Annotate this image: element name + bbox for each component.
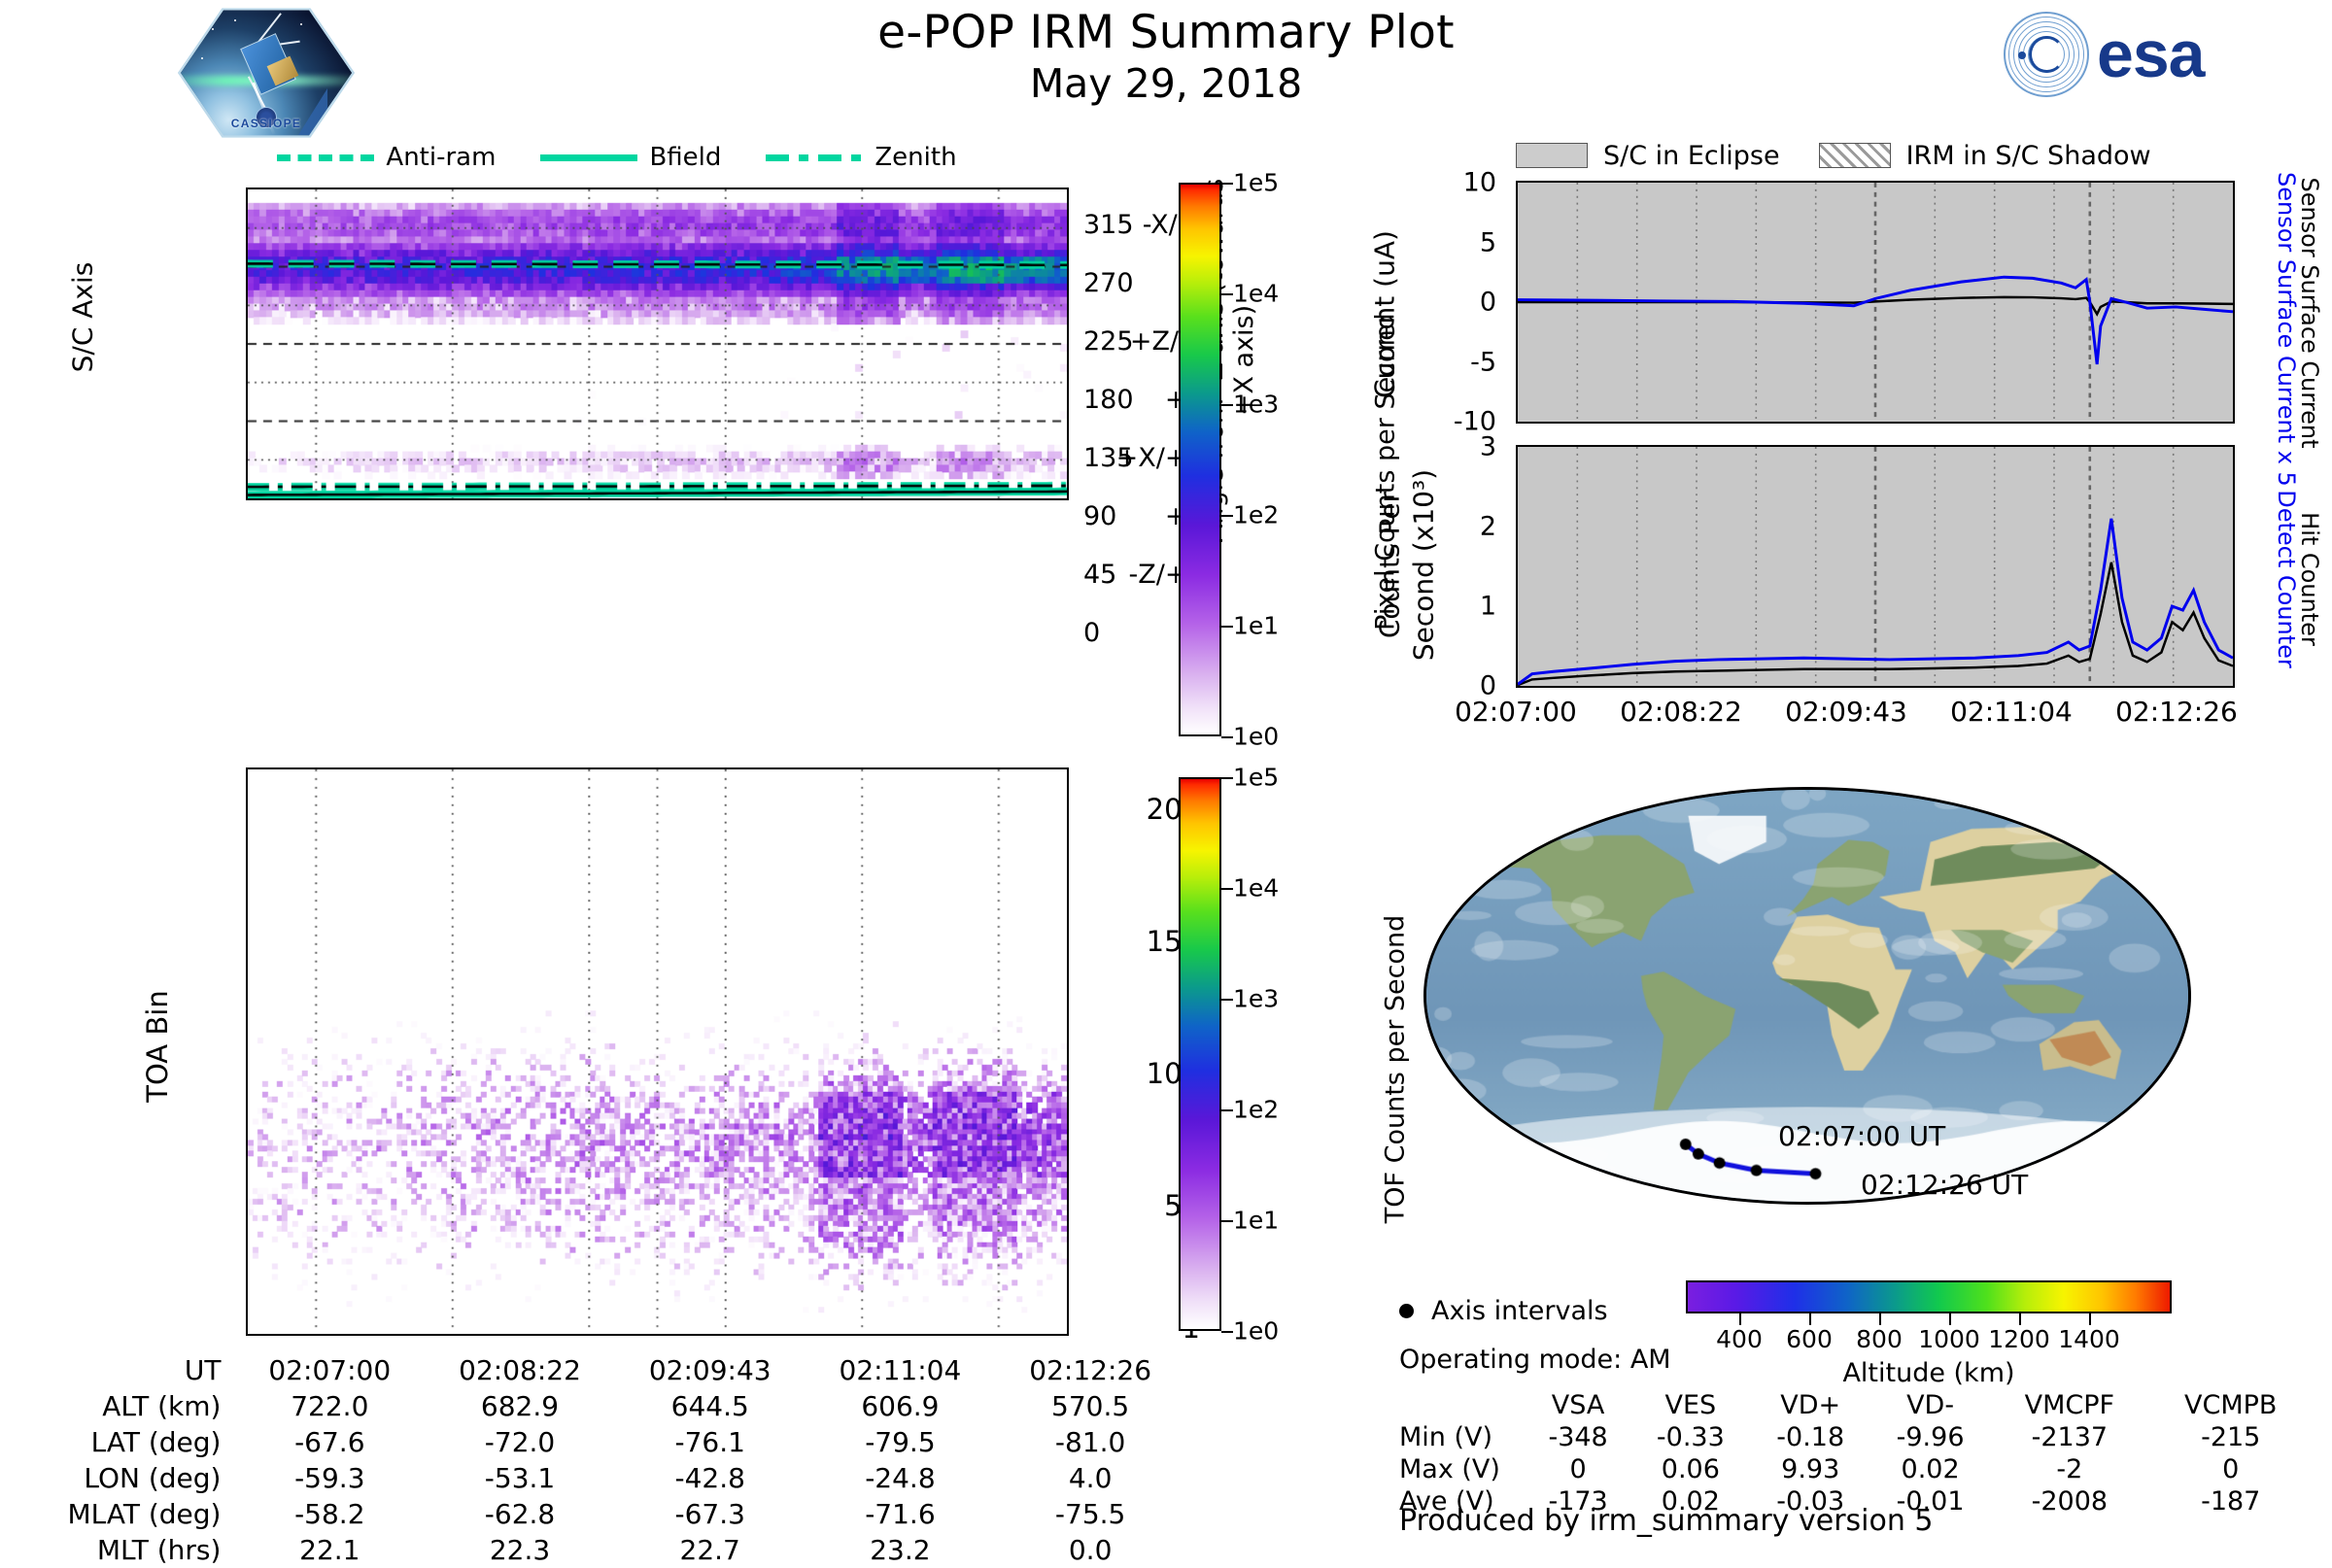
solid-line-icon (540, 154, 637, 161)
operating-mode-text: Operating mode: AM (1399, 1345, 1671, 1375)
ave-vcmpb: -187 (2148, 1485, 2313, 1517)
pixel-cbar-tick-1e5: 1e5 (1233, 169, 1279, 197)
alt-4: 570.5 (995, 1388, 1185, 1424)
ave-vmcpf: -2008 (1990, 1485, 2148, 1517)
row-label-lat: LAT (deg) (19, 1424, 234, 1460)
legend-item-zenith: Zenith (766, 143, 956, 172)
min-ves: -0.33 (1630, 1421, 1750, 1453)
alt-3: 606.9 (806, 1388, 996, 1424)
table-row-min: Min (V) -348 -0.33 -0.18 -9.96 -2137 -21… (1399, 1421, 2313, 1453)
esa-logo: esa (2004, 8, 2256, 101)
alt-1: 682.9 (425, 1388, 615, 1424)
esa-logo-text: esa (2097, 21, 2204, 87)
mlat-3: -71.6 (806, 1496, 996, 1532)
current-right-label-black: Sensor Surface Current (2296, 172, 2323, 454)
lon-2: -42.8 (615, 1460, 806, 1496)
legend-item-sc-eclipse: S/C in Eclipse (1516, 141, 1780, 171)
row-label-ut: UT (19, 1352, 234, 1388)
table-row-alt: ALT (km) 722.0 682.9 644.5 606.9 570.5 (19, 1388, 1185, 1424)
tof-colorbar-ticks: 1e5 1e4 1e3 1e2 1e1 1e0 (1179, 777, 1392, 1331)
counts-xtick-0: 02:07:00 (1428, 696, 1603, 728)
lat-2: -76.1 (615, 1424, 806, 1460)
current-ytick-10: 10 (1389, 168, 1496, 198)
max-ves: 0.06 (1630, 1453, 1750, 1485)
legend-label-anti-ram: Anti-ram (386, 143, 496, 172)
pixel-cbar-tick-1e1: 1e1 (1233, 612, 1279, 640)
table-row-max: Max (V) 0 0.06 9.93 0.02 -2 0 (1399, 1453, 2313, 1485)
lat-0: -67.6 (234, 1424, 425, 1460)
lon-0: -59.3 (234, 1460, 425, 1496)
voltage-stats-table: VSA VES VD+ VD- VMCPF VCMPB Min (V) -348… (1399, 1389, 2313, 1517)
lat-1: -72.0 (425, 1424, 615, 1460)
sc-right-ytick-2: 225 (1083, 326, 1171, 357)
table-row-ut: UT 02:07:00 02:08:22 02:09:43 02:11:04 0… (19, 1352, 1185, 1388)
grey-swatch-icon (1516, 143, 1588, 168)
mlat-2: -67.3 (615, 1496, 806, 1532)
dashdot-line-icon (766, 154, 863, 161)
altitude-colorbar (1686, 1280, 2172, 1313)
axis-intervals-label: Axis intervals (1431, 1296, 1608, 1326)
counts-ytick-3: 3 (1389, 432, 1496, 462)
axis-intervals-legend: Axis intervals (1399, 1296, 1608, 1326)
legend-item-bfield: Bfield (540, 143, 721, 172)
alt-tick-800: 800 (1856, 1325, 1903, 1353)
sc-right-ytick-1: 270 (1083, 268, 1171, 298)
tof-cbar-tick-1e3: 1e3 (1233, 985, 1279, 1013)
alt-tick-600: 600 (1786, 1325, 1833, 1353)
counts-plot (1516, 445, 2235, 688)
tof-colorbar-title: TOF Counts per Second (1381, 856, 1411, 1283)
pixel-cbar-tick-1e2: 1e2 (1233, 501, 1279, 529)
lat-4: -81.0 (995, 1424, 1185, 1460)
toa-bin-spectrogram (246, 767, 1069, 1336)
max-vdplus: 9.93 (1751, 1453, 1870, 1485)
lon-3: -24.8 (806, 1460, 996, 1496)
col-vdminus: VD- (1870, 1389, 1990, 1421)
ut-4: 02:12:26 (995, 1352, 1185, 1388)
min-vmcpf: -2137 (1990, 1421, 2148, 1453)
row-label-lon: LON (deg) (19, 1460, 234, 1496)
mlt-2: 22.7 (615, 1532, 806, 1568)
alt-tick-1200: 1200 (1988, 1325, 2050, 1353)
col-vmcpf: VMCPF (1990, 1389, 2148, 1421)
counts-xtick-2: 02:09:43 (1759, 696, 1934, 728)
mlt-0: 22.1 (234, 1532, 425, 1568)
lon-1: -53.1 (425, 1460, 615, 1496)
table-row-lat: LAT (deg) -67.6 -72.0 -76.1 -79.5 -81.0 (19, 1424, 1185, 1460)
altitude-colorbar-title: Altitude (km) (1686, 1358, 2172, 1388)
row-label-mlt: MLT (hrs) (19, 1532, 234, 1568)
mlt-3: 23.2 (806, 1532, 996, 1568)
map-end-time-label: 02:12:26 UT (1861, 1169, 2028, 1201)
counts-ylabel-line2: Second (x10³) (1408, 420, 1440, 711)
alt-2: 644.5 (615, 1388, 806, 1424)
tof-cbar-tick-1e5: 1e5 (1233, 764, 1279, 792)
current-ylabel: Current (uA) (1369, 179, 1401, 451)
counts-ytick-2: 2 (1389, 512, 1496, 542)
legend-label-bfield: Bfield (649, 143, 721, 172)
counts-xtick-1: 02:08:22 (1594, 696, 1768, 728)
alt-0: 722.0 (234, 1388, 425, 1424)
max-vmcpf: -2 (1990, 1453, 2148, 1485)
counts-ytick-1: 1 (1389, 592, 1496, 622)
legend-label-zenith: Zenith (874, 143, 956, 172)
ut-1: 02:08:22 (425, 1352, 615, 1388)
row-label-min: Min (V) (1399, 1421, 1526, 1453)
esa-mark-icon (2004, 12, 2089, 97)
eclipse-legend: S/C in Eclipse IRM in S/C Shadow (1516, 138, 2332, 173)
max-vsa: 0 (1526, 1453, 1630, 1485)
sc-right-ytick-5: 90 (1083, 501, 1171, 531)
current-ytick-5: 5 (1389, 228, 1496, 258)
row-label-max: Max (V) (1399, 1453, 1526, 1485)
sc-right-ytick-7: 0 (1083, 618, 1171, 648)
legend-item-irm-shadow: IRM in S/C Shadow (1819, 141, 2151, 171)
counts-xtick-3: 02:11:04 (1924, 696, 2099, 728)
max-vcmpb: 0 (2148, 1453, 2313, 1485)
mlt-1: 22.3 (425, 1532, 615, 1568)
legend-label-sc-eclipse: S/C in Eclipse (1603, 141, 1780, 171)
mlt-4: 0.0 (995, 1532, 1185, 1568)
table-row-mlt: MLT (hrs) 22.1 22.3 22.7 23.2 0.0 (19, 1532, 1185, 1568)
sc-axis-ylabel: S/C Axis (67, 201, 99, 434)
col-ves: VES (1630, 1389, 1750, 1421)
map-start-time-label: 02:07:00 UT (1778, 1120, 1945, 1152)
legend-item-anti-ram: Anti-ram (277, 143, 496, 172)
min-vdminus: -9.96 (1870, 1421, 1990, 1453)
ut-2: 02:09:43 (615, 1352, 806, 1388)
lon-4: 4.0 (995, 1460, 1185, 1496)
lat-3: -79.5 (806, 1424, 996, 1460)
alt-tick-400: 400 (1716, 1325, 1763, 1353)
pixel-cbar-tick-1e4: 1e4 (1233, 280, 1279, 308)
mlat-4: -75.5 (995, 1496, 1185, 1532)
max-vdminus: 0.02 (1870, 1453, 1990, 1485)
min-vsa: -348 (1526, 1421, 1630, 1453)
min-vdplus: -0.18 (1751, 1421, 1870, 1453)
produced-by-text: Produced by irm_summary version 5 (1399, 1504, 1933, 1538)
counts-xtick-4: 02:12:26 (2089, 696, 2264, 728)
ephemeris-table: UT 02:07:00 02:08:22 02:09:43 02:11:04 0… (19, 1352, 1185, 1568)
tof-cbar-tick-1e2: 1e2 (1233, 1096, 1279, 1124)
tof-cbar-tick-1e4: 1e4 (1233, 874, 1279, 903)
current-plot (1516, 181, 2235, 424)
dot-marker-icon (1399, 1304, 1414, 1318)
hatched-swatch-icon (1819, 143, 1891, 168)
table-header-row: VSA VES VD+ VD- VMCPF VCMPB (1399, 1389, 2313, 1421)
mlat-1: -62.8 (425, 1496, 615, 1532)
min-vcmpb: -215 (2148, 1421, 2313, 1453)
sc-right-ytick-3: 180 (1083, 385, 1171, 415)
tof-cbar-tick-1e0: 1e0 (1233, 1317, 1279, 1346)
ut-3: 02:11:04 (806, 1352, 996, 1388)
row-label-alt: ALT (km) (19, 1388, 234, 1424)
sc-axis-spectrogram (246, 187, 1069, 500)
pixel-colorbar-ticks: 1e5 1e4 1e3 1e2 1e1 1e0 (1179, 183, 1392, 736)
col-vdplus: VD+ (1751, 1389, 1870, 1421)
table-row-lon: LON (deg) -59.3 -53.1 -42.8 -24.8 4.0 (19, 1460, 1185, 1496)
cassiope-logo-text: CASSIOPE (181, 117, 352, 130)
dashed-line-icon (277, 154, 374, 161)
table-row-mlat: MLAT (deg) -58.2 -62.8 -67.3 -71.6 -75.5 (19, 1496, 1185, 1532)
counts-ylabel-line1: Counts Per (1374, 420, 1406, 711)
alt-tick-1000: 1000 (1918, 1325, 1980, 1353)
row-label-mlat: MLAT (deg) (19, 1496, 234, 1532)
sc-right-ytick-6: 45 (1083, 560, 1171, 590)
tof-cbar-tick-1e1: 1e1 (1233, 1207, 1279, 1235)
cassiope-logo: CASSIOPE (181, 8, 352, 138)
pixel-cbar-tick-1e3: 1e3 (1233, 391, 1279, 419)
pixel-cbar-tick-1e0: 1e0 (1233, 723, 1279, 751)
ut-0: 02:07:00 (234, 1352, 425, 1388)
toa-bin-ylabel: TOA Bin (141, 949, 174, 1143)
counts-right-label-black: Hit Counter (2296, 438, 2323, 720)
current-ytick-neg5: -5 (1389, 348, 1496, 378)
alt-tick-1400: 1400 (2058, 1325, 2120, 1353)
sc-right-ytick-4: 135 (1083, 443, 1171, 473)
current-ytick-0: 0 (1389, 288, 1496, 318)
axis-overlay-legend: Anti-ram Bfield Zenith (165, 141, 1069, 174)
col-vsa: VSA (1526, 1389, 1630, 1421)
col-vcmpb: VCMPB (2148, 1389, 2313, 1421)
sc-right-ytick-0: 315 (1083, 210, 1171, 240)
legend-label-irm-shadow: IRM in S/C Shadow (1906, 141, 2151, 171)
voltage-corner-cell (1399, 1389, 1526, 1421)
mlat-0: -58.2 (234, 1496, 425, 1532)
